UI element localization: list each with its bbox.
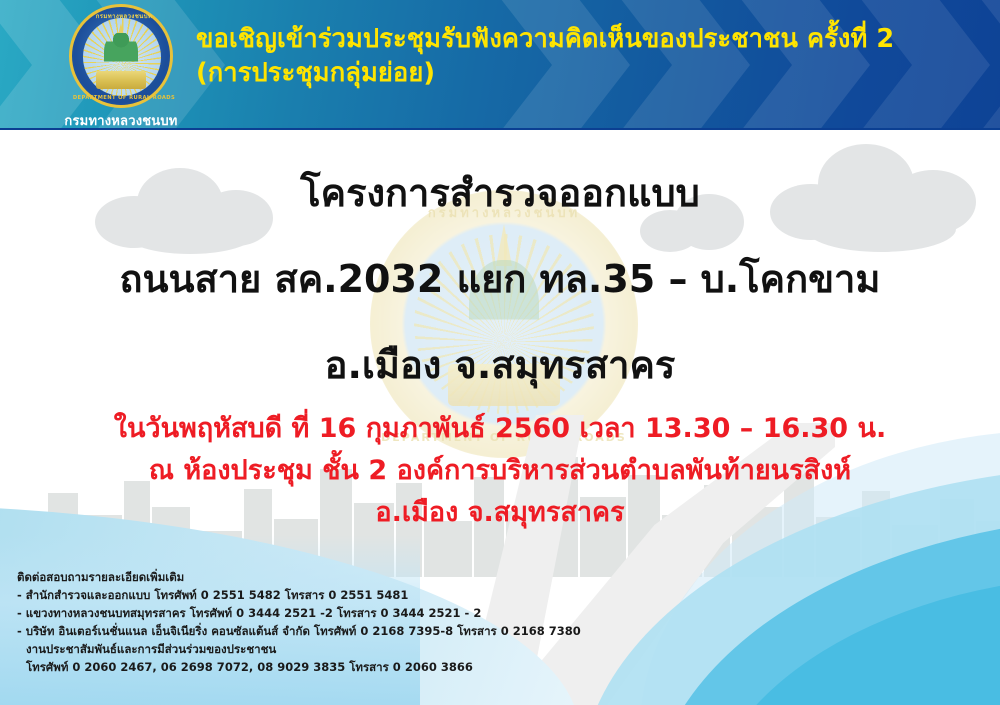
contact-line-5: โทรศัพท์ 0 2060 2467, 06 2698 7072, 08 9… [17,658,637,676]
header-banner: กรมทางหลวงชนบท DEPARTMENT OF RURAL ROADS… [0,0,1000,130]
project-title-line-3: อ.เมือง จ.สมุทรสาคร [0,322,1000,408]
contact-line-2: - แขวงทางหลวงชนบทสมุทรสาคร โทรศัพท์ 0 34… [17,604,637,622]
meeting-venue: ณ ห้องประชุม ชั้น 2 องค์การบริหารส่วนตำบ… [0,450,1000,492]
header-headline-block: ขอเชิญเข้าร่วมประชุมรับฟังความคิดเห็นของ… [196,22,986,90]
meeting-datetime: ในวันพฤหัสบดี ที่ 16 กุมภาพันธ์ 2560 เวล… [0,408,1000,450]
project-title-block: โครงการสำรวจออกแบบ ถนนสาย สค.2032 แยก ทล… [0,150,1000,408]
agency-emblem-block: กรมทางหลวงชนบท DEPARTMENT OF RURAL ROADS… [55,4,187,130]
agency-name-caption: กรมทางหลวงชนบท [55,110,187,130]
headline-line-2: (การประชุมกลุ่มย่อย) [196,56,986,90]
contact-line-4: งานประชาสัมพันธ์และการมีส่วนร่วมของประชา… [17,640,637,658]
emblem-pedestal [96,71,146,89]
emblem-ring-text-bottom: DEPARTMENT OF RURAL ROADS [72,95,176,101]
project-title-line-2: ถนนสาย สค.2032 แยก ทล.35 – บ.โคกขาม [0,236,1000,322]
headline-line-1: ขอเชิญเข้าร่วมประชุมรับฟังความคิดเห็นของ… [196,22,986,56]
contact-heading: ติดต่อสอบถามรายละเอียดเพิ่มเติม [17,568,637,586]
meeting-venue-district: อ.เมือง จ.สมุทรสาคร [0,492,1000,534]
poster-canvas: กรมทางหลวงชนบท DEPARTMENT OF RURAL ROADS… [0,0,1000,705]
contact-line-3: - บริษัท อินเตอร์เนชั่นแนล เอ็นจิเนียริ่… [17,622,637,640]
meeting-details-block: ในวันพฤหัสบดี ที่ 16 กุมภาพันธ์ 2560 เวล… [0,408,1000,534]
department-of-rural-roads-emblem-icon: กรมทางหลวงชนบท DEPARTMENT OF RURAL ROADS [69,4,173,108]
project-title-line-1: โครงการสำรวจออกแบบ [0,150,1000,236]
contact-information-block: ติดต่อสอบถามรายละเอียดเพิ่มเติม - สำนักส… [17,568,637,676]
emblem-ring-text-top: กรมทางหลวงชนบท [72,11,176,21]
contact-line-1: - สำนักสำรวจและออกแบบ โทรศัพท์ 0 2551 54… [17,586,637,604]
